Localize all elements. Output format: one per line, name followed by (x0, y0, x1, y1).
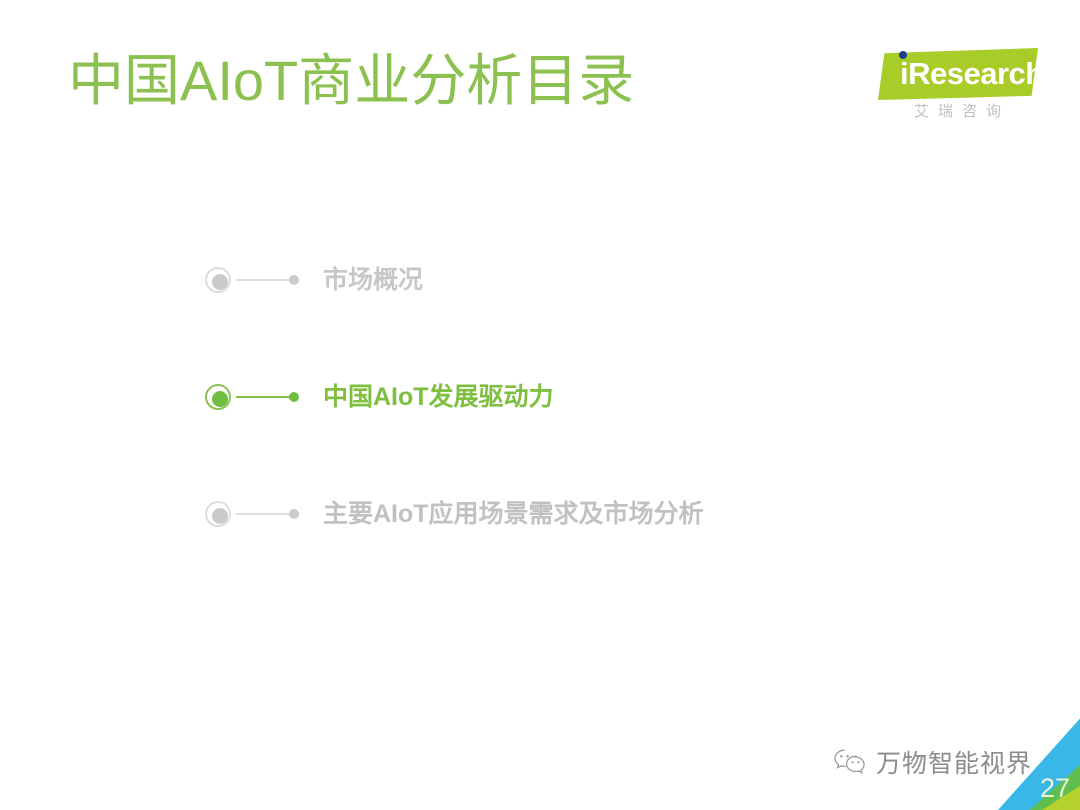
agenda-item-label: 中国AIoT发展驱动力 (323, 382, 554, 412)
marker-ring-icon (205, 384, 231, 410)
logo-subtitle: 艾瑞咨询 (892, 100, 1032, 121)
marker-connector-line (236, 396, 291, 398)
logo-research-text: Research (908, 56, 1044, 91)
iresearch-logo: iResearch 艾瑞咨询 (878, 48, 1038, 130)
marker-connector-line (236, 279, 291, 281)
agenda-marker (205, 496, 317, 532)
page-number: 27 (1040, 773, 1070, 804)
agenda-item-aiot-drivers[interactable]: 中国AIoT发展驱动力 (205, 375, 925, 419)
marker-end-dot-icon (289, 392, 299, 402)
agenda-marker (205, 379, 317, 415)
marker-dot-icon (212, 391, 228, 407)
agenda-list: 市场概况 中国AIoT发展驱动力 主要AIoT应用场景需求及市场分析 (205, 258, 925, 536)
page-title: 中国AIoT商业分析目录 (68, 52, 634, 111)
marker-ring-icon (205, 501, 231, 527)
agenda-item-label: 主要AIoT应用场景需求及市场分析 (323, 499, 704, 529)
slide-canvas: 中国AIoT商业分析目录 iResearch 艾瑞咨询 市场概况 (0, 0, 1080, 810)
agenda-marker (205, 262, 317, 298)
logo-i-letter: i (900, 56, 908, 91)
marker-end-dot-icon (289, 509, 299, 519)
agenda-item-application-scenarios[interactable]: 主要AIoT应用场景需求及市场分析 (205, 492, 925, 536)
agenda-item-market-overview[interactable]: 市场概况 (205, 258, 925, 302)
marker-connector-line (236, 513, 291, 515)
corner-decoration: 27 (972, 706, 1080, 810)
marker-dot-icon (212, 274, 228, 290)
marker-ring-icon (205, 267, 231, 293)
marker-end-dot-icon (289, 275, 299, 285)
logo-wordmark: iResearch (900, 56, 1044, 92)
wechat-icon (833, 748, 867, 776)
agenda-item-label: 市场概况 (323, 265, 423, 295)
marker-dot-icon (212, 508, 228, 524)
